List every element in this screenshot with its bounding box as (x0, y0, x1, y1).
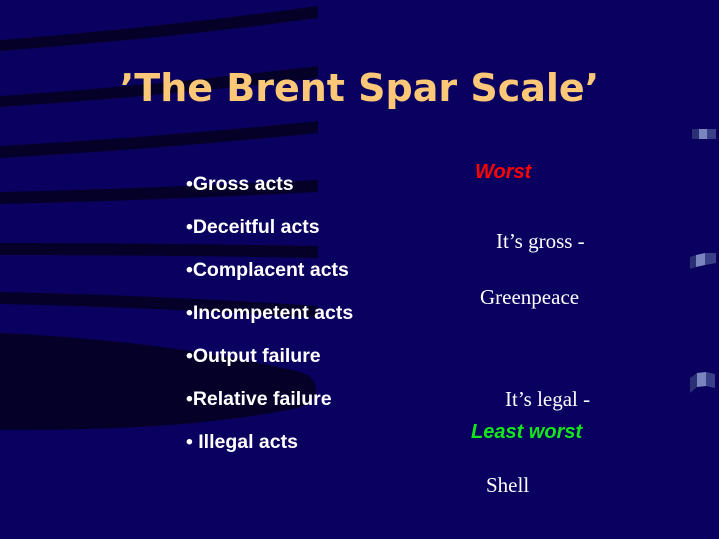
worst-example-line-2: Greenpeace (475, 283, 585, 311)
worst-example-line-1: It’s gross - (496, 229, 585, 253)
slide-canvas: ’The Brent Spar Scale’ •Gross acts •Dece… (0, 0, 719, 539)
list-item: • Illegal acts (186, 421, 436, 464)
list-item: •Deceitful acts (186, 206, 436, 249)
list-item: •Gross acts (186, 163, 436, 206)
worst-label: Worst (475, 161, 531, 184)
least-worst-example-line-2: Shell (484, 464, 590, 507)
list-item: •Output failure (186, 335, 436, 378)
edge-marker-2-icon (690, 253, 716, 269)
edge-marker-3-icon (690, 372, 716, 394)
list-item: •Complacent acts (186, 249, 436, 292)
list-item: •Relative failure (186, 378, 436, 421)
list-item: •Incompetent acts (186, 292, 436, 335)
least-worst-label: Least worst (471, 421, 582, 444)
least-worst-example-line-1: It’s legal - (505, 387, 590, 411)
bullet-list: •Gross acts •Deceitful acts •Complacent … (186, 163, 436, 464)
edge-marker-1-icon (692, 129, 716, 139)
page-title: ’The Brent Spar Scale’ (0, 66, 719, 110)
